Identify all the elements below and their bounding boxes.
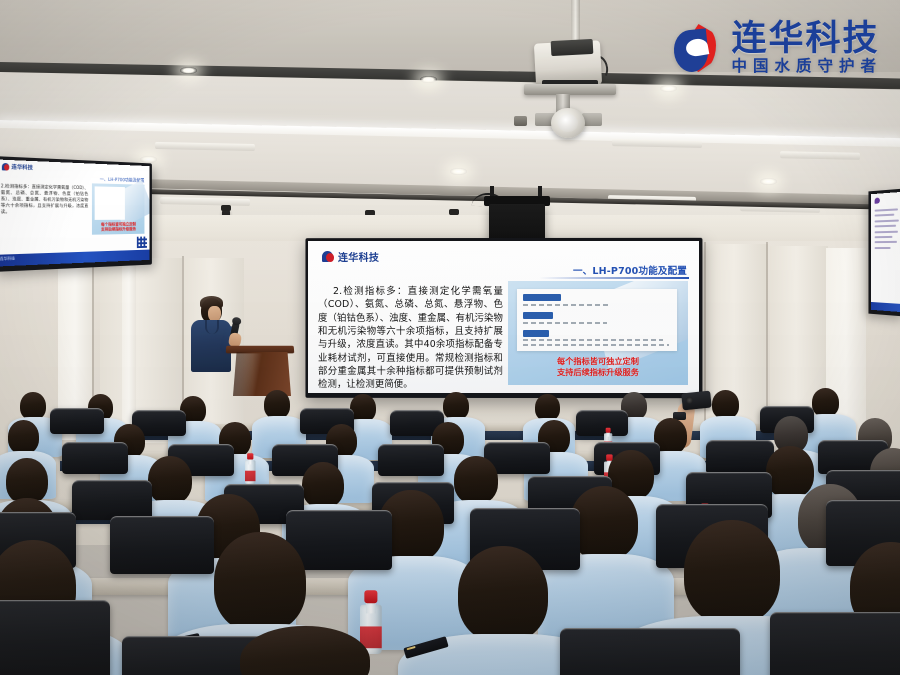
text-line: [875, 247, 891, 249]
slide-body-text: 2.检测指标多：直接测定化学需氧量（COD）、氨氮、总磷、总氮、悬浮物、色度（铂…: [318, 285, 503, 392]
chair: [378, 444, 444, 476]
text-line: [875, 230, 898, 233]
company-logo-icon: [875, 198, 880, 204]
text-line: [875, 241, 897, 243]
bottle-label: [245, 471, 256, 482]
left-monitor-footer-text: 连华科技: [0, 256, 15, 262]
slide-image-panel: 每个指标皆可独立定制 支持后续指标升级服务: [508, 281, 688, 385]
left-monitor-logo-text: 连华科技: [11, 163, 32, 171]
water-bottle: [245, 453, 256, 484]
text-line: [875, 214, 895, 217]
red-caption-line-2: 支持后续指标升级服务: [92, 226, 144, 232]
chair: [62, 442, 128, 474]
projection-screen[interactable]: 连华科技 一、LH-P700功能及配置 2.检测指标多：直接测定化学需氧量（CO…: [308, 241, 699, 393]
downlight-icon: [180, 67, 197, 74]
chair: [110, 516, 214, 574]
text-line: [875, 208, 898, 211]
bottle-cap: [247, 453, 253, 459]
projector-top-module: [551, 39, 594, 56]
attendee-head: [443, 392, 469, 420]
brand-subtitle: 中国水质守护者: [731, 59, 882, 75]
indicator-tag-3: [523, 330, 549, 337]
chair: [706, 440, 774, 474]
bottle-neck: [606, 432, 610, 436]
slide-red-caption: 每个指标皆可独立定制 支持后续指标升级服务: [508, 356, 688, 378]
slide-section-title: 一、LH-P700功能及配置: [573, 263, 687, 277]
attendee-head: [214, 532, 306, 632]
bottle-neck: [366, 602, 376, 614]
bottle-cap: [606, 428, 611, 433]
attendee-head: [20, 392, 46, 420]
red-caption-line-2: 支持后续指标升级服务: [508, 367, 688, 378]
company-logo-icon: [674, 22, 722, 76]
lecture-hall-scene: 连华科技 一、LH-P700功能及配置 2.检测指标多：直接测定化学需氧量（CO…: [0, 0, 900, 675]
left-monitor-red-caption: 每个指标皆可独立定制 支持后续指标升级服务: [92, 221, 144, 232]
left-monitor-image-panel: 每个指标皆可独立定制 支持后续指标升级服务: [92, 183, 144, 234]
qr-code-icon: [137, 237, 147, 249]
projector-bracket: [524, 84, 616, 95]
attendee-head: [302, 462, 344, 508]
chair: [72, 480, 152, 520]
indicator-list-line: [523, 304, 611, 306]
attendee-head: [535, 394, 560, 421]
right-monitor-screen[interactable]: [871, 192, 900, 313]
projector-wing-right: [582, 113, 602, 126]
bottle-cap: [364, 590, 377, 603]
presenter-lanyard: [205, 320, 219, 334]
spec-card: [95, 186, 125, 220]
text-line: [875, 219, 899, 222]
smartphone-icon: [681, 391, 712, 411]
left-monitor-body-text: 2.检测指标多：直接测定化学需氧量（COD）、氨氮、总磷、总氮、悬浮物、色度（铂…: [1, 183, 88, 214]
projector-lens-icon: [551, 108, 585, 138]
downlight-icon: [450, 168, 467, 175]
indicator-tag-1: [523, 294, 561, 301]
downlight-icon: [660, 85, 677, 92]
company-logo-icon: [322, 250, 335, 263]
attendee-head: [766, 446, 814, 498]
brand-title: 连华科技: [731, 22, 882, 57]
downlight-icon: [420, 76, 437, 83]
indicator-list-line: [523, 344, 669, 346]
attendee-head: [812, 388, 839, 417]
attendee-head: [8, 420, 39, 454]
slide-logo-text: 连华科技: [338, 249, 379, 264]
brand-text-block: 连华科技 中国水质守护者: [731, 22, 882, 75]
bottle-neck: [248, 459, 253, 465]
chair: [50, 408, 104, 434]
indicator-list-line: [523, 339, 663, 341]
chair: [770, 612, 900, 675]
indicator-tag-2: [523, 312, 553, 319]
downlight-icon: [140, 156, 157, 163]
indicator-list-line: [523, 322, 607, 324]
text-line: [875, 225, 896, 228]
brand-watermark: 连华科技 中国水质守护者: [674, 22, 882, 76]
attendee-head: [684, 520, 780, 624]
attendee-head: [454, 456, 498, 504]
indicator-spec-card: [517, 289, 677, 351]
slide-logo: 连华科技: [322, 249, 379, 264]
attendee-head: [712, 390, 739, 419]
company-logo-icon: [2, 163, 9, 171]
slide-header-rule: [539, 277, 689, 279]
left-monitor-screen[interactable]: 连华科技 一、LH-P700功能及配置 2.检测指标多：直接测定化学需氧量（CO…: [0, 159, 149, 266]
left-monitor-logo: 连华科技: [2, 163, 33, 172]
attendee-head: [570, 486, 638, 560]
attendee-head: [148, 456, 192, 504]
text-line: [875, 236, 893, 238]
downlight-icon: [760, 178, 777, 185]
attendee-head: [264, 390, 290, 419]
chair: [560, 628, 740, 675]
wall-seam: [704, 242, 706, 447]
chair: [0, 600, 110, 675]
right-monitor-text-lines: [875, 208, 900, 252]
red-caption-line-1: 每个指标皆可独立定制: [508, 356, 688, 367]
attendee-head: [458, 546, 548, 642]
ceiling-sensor-icon: [514, 116, 527, 126]
chair: [576, 410, 628, 436]
